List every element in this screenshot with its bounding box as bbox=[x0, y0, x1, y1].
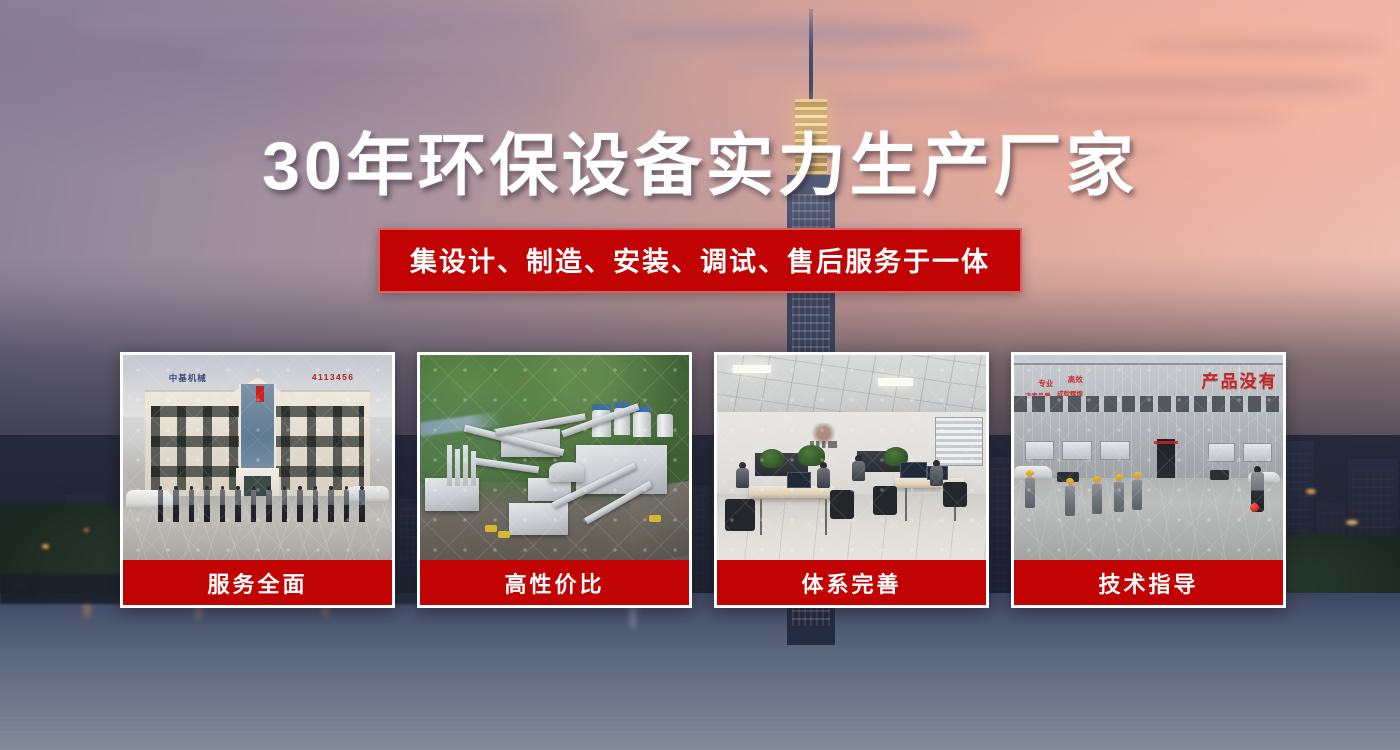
potted-plant bbox=[760, 449, 784, 467]
page-title: 30年环保设备实力生产厂家 bbox=[0, 132, 1400, 200]
excavator bbox=[485, 525, 497, 532]
plant-building bbox=[509, 503, 568, 536]
ceiling-light bbox=[878, 378, 913, 386]
office-building-staff-photo: 中基机械 4113456 bbox=[123, 355, 392, 560]
water-ripples bbox=[0, 717, 1400, 736]
cloud-wisp bbox=[952, 109, 1288, 126]
river-water bbox=[0, 593, 1400, 750]
card-caption: 技术指导 bbox=[1014, 560, 1283, 605]
city-light bbox=[84, 528, 89, 532]
card-caption: 高性价比 bbox=[420, 560, 689, 605]
subtitle-banner: 集设计、制造、安装、调试、售后服务于一体 bbox=[378, 228, 1022, 293]
feature-card[interactable]: 中基机械 4113456 服务全面 bbox=[120, 352, 395, 608]
feature-card[interactable]: 体系完善 bbox=[714, 352, 989, 608]
cement-silo bbox=[633, 412, 652, 437]
factory-window bbox=[1100, 441, 1130, 459]
excavator bbox=[649, 515, 661, 522]
factory-window-strip bbox=[1014, 396, 1283, 412]
office-chair bbox=[725, 499, 755, 532]
factory-slogan-b: 高效 bbox=[1068, 374, 1083, 385]
cloud-wisp bbox=[616, 22, 980, 46]
feature-card[interactable]: 产品没有 专业 高效 决定品质 成就辉煌 bbox=[1011, 352, 1286, 608]
red-helmet bbox=[1250, 503, 1259, 512]
excavator bbox=[498, 531, 510, 538]
factory-window bbox=[1208, 443, 1235, 461]
card-caption: 体系完善 bbox=[717, 560, 986, 605]
office-interior-staff-photo bbox=[717, 355, 986, 560]
city-light bbox=[1346, 520, 1358, 525]
card-caption: 服务全面 bbox=[123, 560, 392, 605]
ceiling-light bbox=[733, 365, 771, 373]
promo-banner: 30年环保设备实力生产厂家 集设计、制造、安装、调试、售后服务于一体 中基机械 … bbox=[0, 0, 1400, 750]
laptop-screen bbox=[787, 472, 811, 488]
plant-dome bbox=[549, 462, 584, 483]
office-chair bbox=[830, 490, 854, 519]
cloud-wisp bbox=[1134, 39, 1386, 53]
cloud-wisp bbox=[728, 57, 1036, 72]
city-light bbox=[1306, 489, 1316, 494]
feature-card[interactable]: 高性价比 bbox=[417, 352, 692, 608]
cloud-wisp bbox=[980, 74, 1372, 96]
city-light bbox=[42, 544, 49, 549]
cloud-wisp bbox=[196, 44, 616, 61]
aerial-industrial-plant-photo bbox=[420, 355, 689, 560]
tower-antenna-spire bbox=[809, 9, 813, 101]
cloud-wisp bbox=[70, 13, 574, 35]
factory-workers-briefing-photo: 产品没有 专业 高效 决定品质 成就辉煌 bbox=[1014, 355, 1283, 560]
cement-silo bbox=[657, 414, 673, 437]
motorbike bbox=[1210, 470, 1229, 480]
phone-number-text: 4113456 bbox=[312, 372, 354, 382]
factory-slogan-large: 产品没有 bbox=[1202, 367, 1278, 392]
factory-window bbox=[1243, 443, 1273, 461]
factory-window bbox=[1062, 441, 1092, 459]
factory-door bbox=[1157, 439, 1176, 478]
factory-window bbox=[1025, 441, 1055, 459]
office-chair bbox=[943, 482, 967, 507]
subtitle-banner-wrap: 集设计、制造、安装、调试、售后服务于一体 bbox=[0, 228, 1400, 293]
cloud-wisp bbox=[812, 96, 1064, 109]
factory-slogan-a: 专业 bbox=[1038, 378, 1053, 389]
window-blinds bbox=[935, 417, 983, 466]
monitor-screen bbox=[900, 462, 927, 478]
staff-lineup bbox=[158, 486, 365, 535]
flag-icon bbox=[256, 386, 264, 402]
feature-cards: 中基机械 4113456 服务全面 bbox=[120, 352, 1286, 608]
company-sign-text: 中基机械 bbox=[169, 372, 207, 384]
office-chair bbox=[873, 486, 897, 515]
